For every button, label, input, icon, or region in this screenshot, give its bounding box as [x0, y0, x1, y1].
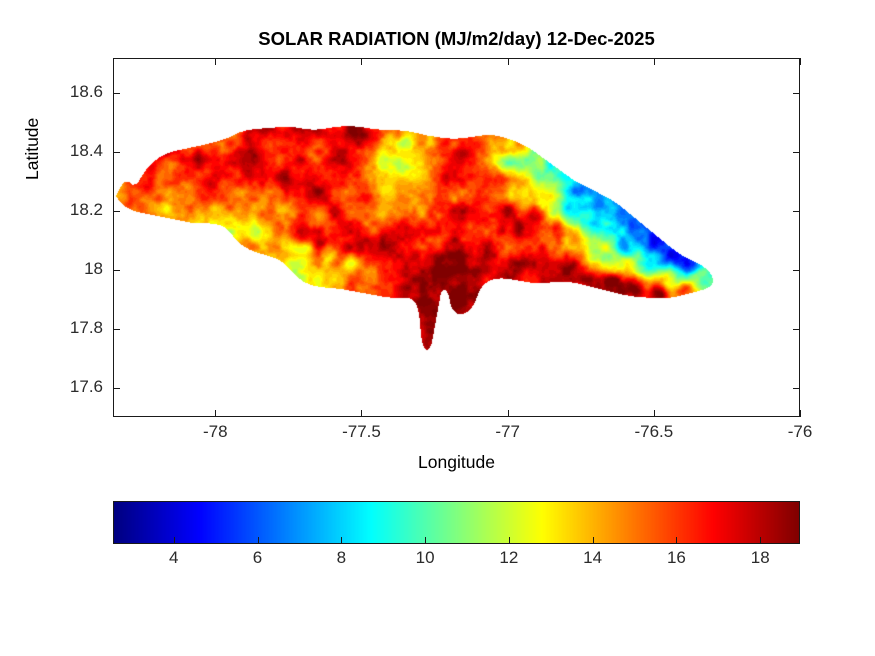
colorbar-tick-label: 10: [416, 548, 435, 568]
y-tick-label: 18: [84, 259, 103, 279]
x-tick-bottom: [215, 410, 216, 417]
y-tick-left: [113, 270, 120, 271]
colorbar-tick-label: 4: [169, 548, 178, 568]
colorbar-tick: [258, 537, 259, 544]
x-tick-label: -77.5: [342, 422, 381, 442]
map-axes: [113, 58, 800, 417]
y-tick-left: [113, 93, 120, 94]
y-tick-label: 18.6: [70, 82, 103, 102]
colorbar-tick: [425, 537, 426, 544]
y-tick-left: [113, 211, 120, 212]
x-tick-bottom: [361, 410, 362, 417]
colorbar-tick-label: 12: [499, 548, 518, 568]
y-tick-left: [113, 152, 120, 153]
x-tick-bottom: [654, 410, 655, 417]
x-tick-bottom: [800, 410, 801, 417]
x-tick-top: [508, 58, 509, 65]
y-tick-right: [793, 152, 800, 153]
y-tick-label: 18.4: [70, 141, 103, 161]
y-tick-left: [113, 388, 120, 389]
colorbar-tick-label: 8: [337, 548, 346, 568]
colorbar-tick: [509, 537, 510, 544]
colorbar[interactable]: [113, 501, 800, 544]
y-tick-label: 17.8: [70, 318, 103, 338]
colorbar-tick-label: 14: [583, 548, 602, 568]
colorbar-gradient: [113, 501, 800, 544]
y-tick-right: [793, 329, 800, 330]
x-tick-label: -78: [203, 422, 228, 442]
y-tick-left: [113, 329, 120, 330]
y-tick-right: [793, 388, 800, 389]
x-tick-top: [361, 58, 362, 65]
colorbar-tick: [760, 537, 761, 544]
x-axis-label: Longitude: [113, 452, 800, 473]
colorbar-tick: [593, 537, 594, 544]
x-tick-top: [215, 58, 216, 65]
y-tick-right: [793, 270, 800, 271]
x-tick-label: -76: [788, 422, 813, 442]
x-tick-bottom: [508, 410, 509, 417]
y-tick-label: 17.6: [70, 377, 103, 397]
x-tick-top: [654, 58, 655, 65]
colorbar-tick: [174, 537, 175, 544]
colorbar-tick-label: 6: [253, 548, 262, 568]
x-tick-top: [800, 58, 801, 65]
colorbar-tick: [341, 537, 342, 544]
solar-radiation-heatmap: [114, 59, 799, 416]
colorbar-tick-label: 16: [667, 548, 686, 568]
y-tick-right: [793, 93, 800, 94]
colorbar-tick: [676, 537, 677, 544]
y-tick-right: [793, 211, 800, 212]
x-tick-label: -77: [495, 422, 520, 442]
colorbar-tick-label: 18: [751, 548, 770, 568]
y-tick-label: 18.2: [70, 200, 103, 220]
figure-canvas: SOLAR RADIATION (MJ/m2/day) 12-Dec-2025 …: [0, 0, 875, 656]
page-title: SOLAR RADIATION (MJ/m2/day) 12-Dec-2025: [113, 28, 800, 50]
x-tick-label: -76.5: [634, 422, 673, 442]
y-axis-label: Latitude: [22, 118, 43, 180]
